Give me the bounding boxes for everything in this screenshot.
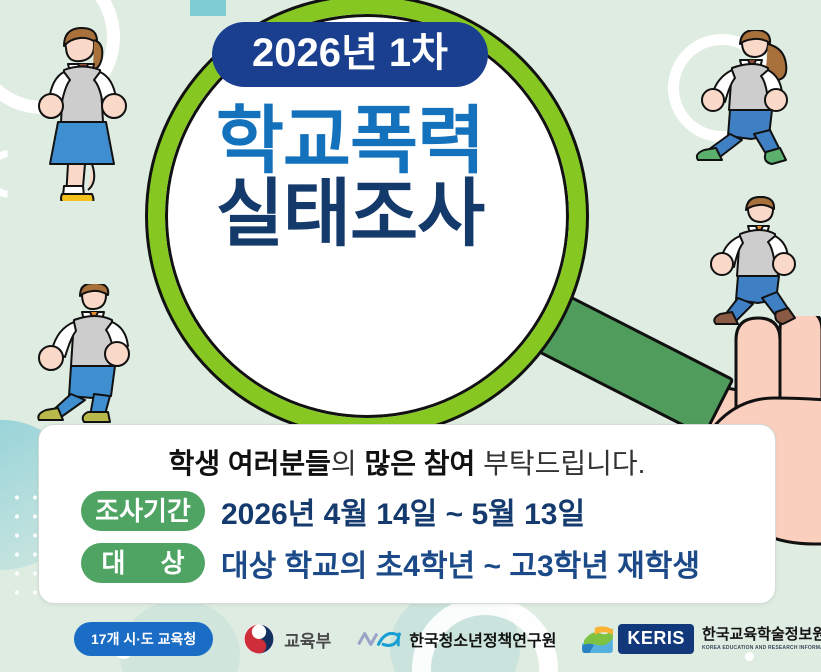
keris-wordmark: KERIS [618,624,694,654]
student-walking-icon [24,284,174,424]
student-running-icon [688,30,808,175]
info-row-target: 대 상 대상 학교의 초4학년 ~ 고3학년 재학생 [81,541,775,585]
title-line-2: 실태조사 [150,176,550,251]
label-survey-period: 조사기간 [81,491,205,531]
logo-moe: 교육부 [243,623,331,655]
value-survey-period: 2026년 4월 14일 ~ 5월 13일 [221,489,585,533]
student-running-icon-2 [700,196,815,336]
nypi-name: 한국청소년정책연구원 [409,627,556,651]
student-cheering-icon [28,26,138,201]
decor-square-teal [190,0,226,16]
headline-block: 2026년 1차 학교폭력 실태조사 [150,22,550,252]
label-target: 대 상 [81,543,205,583]
badge-17-offices: 17개 시·도 교육청 [74,622,213,656]
lead-plain-1: 의 [331,448,365,479]
card-lead-text: 학생 여러분들의 많은 참여 부탁드립니다. [39,447,775,481]
keris-text-block: 한국교육학술정보원 KOREA EDUCATION AND RESEARCH I… [702,627,821,651]
value-target: 대상 학교의 초4학년 ~ 고3학년 재학생 [221,541,700,585]
keris-mark-icon [582,626,613,653]
logo-nypi: 한국청소년정책연구원 [357,627,556,651]
year-badge: 2026년 1차 [212,22,488,87]
moe-name: 교육부 [284,627,331,652]
taeguk-icon [243,623,275,655]
lead-bold-2: 많은 참여 [364,448,475,479]
nypi-mark-icon [357,628,403,650]
title-line-1: 학교폭력 [150,103,550,178]
keris-name-en: KOREA EDUCATION AND RESEARCH INFORMATION… [702,645,821,651]
logo-keris: KERIS 한국교육학술정보원 KOREA EDUCATION AND RESE… [582,624,821,654]
poster-root: 2026년 1차 학교폭력 실태조사 학생 여러분들의 많은 참여 부탁드립니다… [0,0,821,672]
lead-plain-2: 부탁드립니다. [475,448,645,479]
keris-name-kr: 한국교육학술정보원 [702,627,821,644]
lead-bold-1: 학생 여러분들 [169,448,331,479]
footer-logos: 17개 시·도 교육청 교육부 한국청소년정책연구원 [0,606,821,672]
info-card: 학생 여러분들의 많은 참여 부탁드립니다. 조사기간 2026년 4월 14일… [38,424,776,604]
info-row-period: 조사기간 2026년 4월 14일 ~ 5월 13일 [81,489,775,533]
